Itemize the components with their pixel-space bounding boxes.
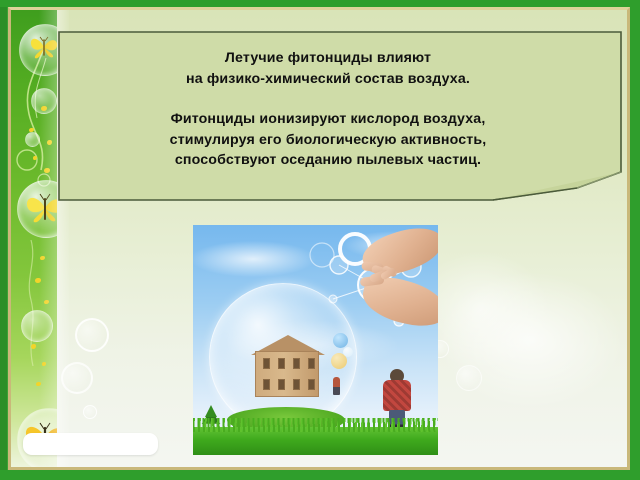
butterfly-icon <box>25 192 57 224</box>
house-window <box>278 358 285 369</box>
house-window <box>263 379 270 390</box>
background-bubble-icon <box>61 362 93 394</box>
petal-icon <box>31 344 36 349</box>
house-window <box>278 379 285 390</box>
paragraph-1-line-2: на физико-химический состав воздуха. <box>57 69 599 90</box>
paragraph-1-line-1: Летучие фитонциды влияют <box>57 48 599 69</box>
petal-icon <box>40 256 45 260</box>
house-window <box>263 358 270 369</box>
placeholder-textbox[interactable] <box>23 433 158 455</box>
house-body <box>255 351 319 397</box>
orb-blue-icon <box>333 333 348 348</box>
paragraph-2-line-2: стимулируя его биологическую активность, <box>57 130 599 151</box>
background-bubble-icon <box>83 405 97 419</box>
house-window <box>308 358 315 369</box>
decorative-side-band <box>11 10 57 467</box>
house-window <box>293 379 300 390</box>
vine-swirl-icon <box>11 240 57 370</box>
petal-icon <box>44 168 50 173</box>
petal-icon <box>44 300 49 304</box>
slide-frame-bottom <box>0 470 640 480</box>
person-small-figure <box>333 377 340 395</box>
orb-white-icon <box>343 347 353 357</box>
grass-field <box>193 427 438 455</box>
slide-frame-top <box>0 0 640 7</box>
child-coat <box>383 380 411 411</box>
house-illustration <box>251 335 325 397</box>
text-callout-box: Летучие фитонциды влияют на физико-химич… <box>57 30 623 202</box>
background-bubble-icon <box>75 318 109 352</box>
hand-lower <box>358 271 438 333</box>
house-window <box>293 358 300 369</box>
petal-icon <box>35 278 41 283</box>
butterfly-icon <box>29 34 57 60</box>
petal-icon <box>41 106 47 111</box>
house-window <box>308 379 315 390</box>
paragraph-2-line-3: способствуют оседанию пылевых частиц. <box>57 150 599 171</box>
slide-canvas: Летучие фитонциды влияют на физико-химич… <box>11 10 627 467</box>
petal-icon <box>42 362 46 366</box>
petal-icon <box>36 382 41 386</box>
slide-photo <box>193 225 438 455</box>
presentation-slide: Летучие фитонциды влияют на физико-химич… <box>0 0 640 480</box>
bubble-icon <box>25 132 40 147</box>
bubble-icon <box>31 88 57 114</box>
paragraph-2-line-1: Фитонциды ионизируют кислород воздуха, <box>57 109 599 130</box>
callout-text-content: Летучие фитонциды влияют на физико-химич… <box>57 48 599 171</box>
background-bubble-icon <box>456 365 482 391</box>
petal-icon <box>47 140 52 145</box>
paragraph-spacer <box>57 89 599 109</box>
slide-frame-right <box>626 0 640 480</box>
petal-icon <box>33 156 37 160</box>
bubble-icon <box>21 310 53 342</box>
